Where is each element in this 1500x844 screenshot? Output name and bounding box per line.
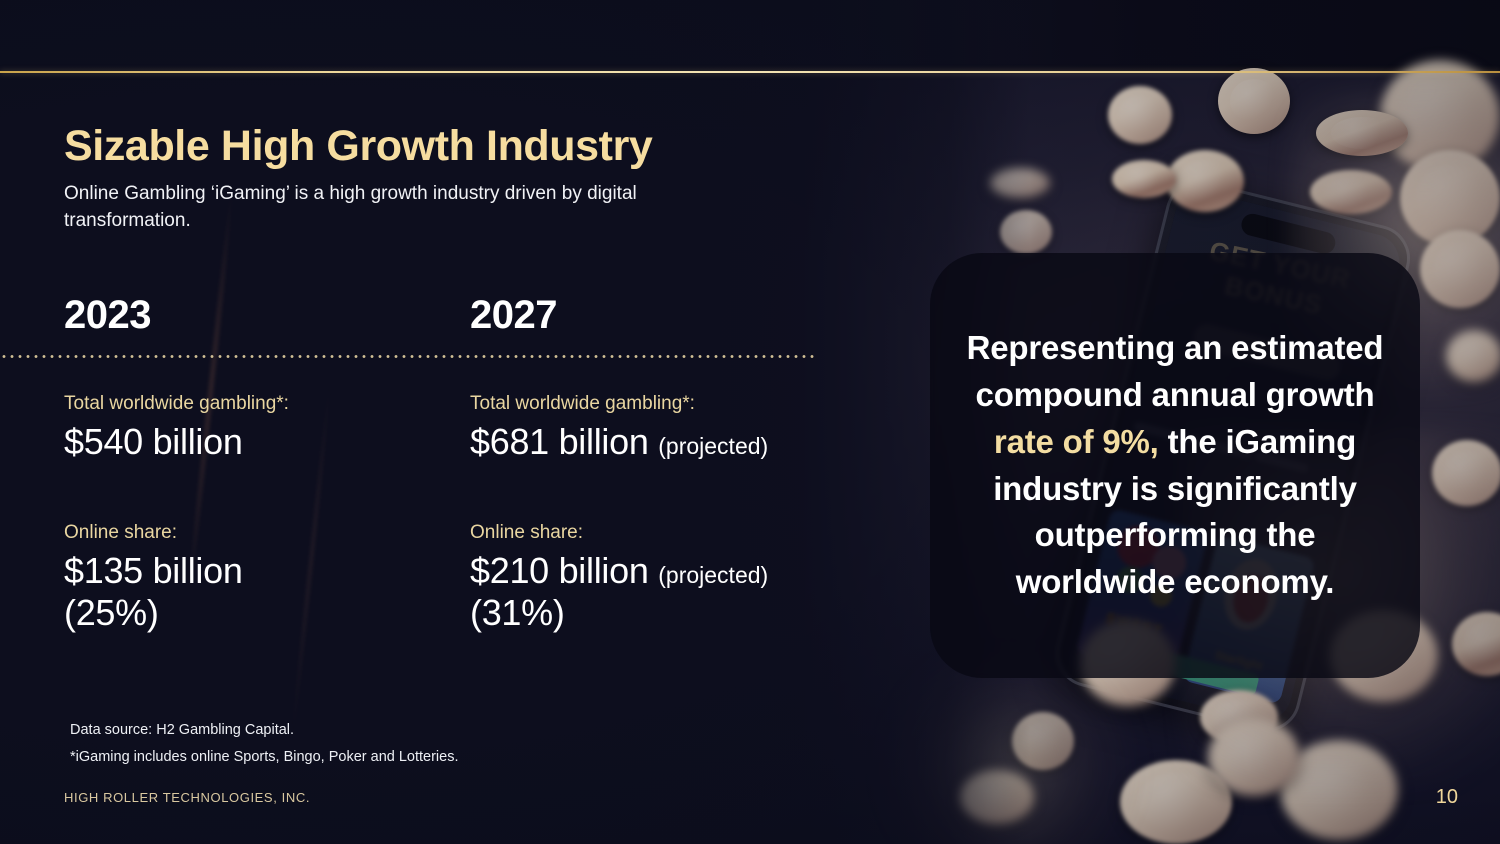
metric-label: Total worldwide gambling*:: [470, 392, 768, 417]
metric-2023-online-share: Online share: $135 billion(25%): [64, 521, 243, 635]
metric-note: (projected): [658, 562, 768, 588]
dotted-divider: [0, 355, 818, 358]
metric-2027-total: Total worldwide gambling*: $681 billion …: [470, 392, 768, 463]
footnote-igaming-definition: *iGaming includes online Sports, Bingo, …: [70, 749, 459, 765]
metric-value: $210 billion (projected)(31%): [470, 550, 768, 635]
page-number: 10: [1436, 786, 1458, 809]
callout-text: Representing an estimated compound annua…: [964, 325, 1386, 606]
metric-value: $681 billion (projected): [470, 421, 768, 463]
metric-percent: (31%): [470, 592, 565, 633]
metric-label: Online share:: [470, 521, 768, 546]
metric-2027-online-share: Online share: $210 billion (projected)(3…: [470, 521, 768, 635]
year-heading-2023: 2023: [64, 295, 464, 335]
metric-note: (projected): [658, 433, 768, 459]
metric-value: $135 billion(25%): [64, 550, 243, 635]
metric-amount: $210 billion: [470, 550, 649, 591]
metric-label: Online share:: [64, 521, 243, 546]
metric-amount: $681 billion: [470, 421, 649, 462]
year-heading-2027: 2027: [470, 295, 890, 335]
metric-2023-total: Total worldwide gambling*: $540 billion: [64, 392, 289, 463]
metric-percent: (25%): [64, 592, 159, 633]
callout-card: Representing an estimated compound annua…: [930, 253, 1420, 678]
callout-highlight: rate of 9%,: [994, 423, 1159, 460]
slide-content: Sizable High Growth Industry Online Gamb…: [0, 0, 1500, 844]
column-2027: 2027: [470, 295, 890, 335]
company-brand-label: HIGH ROLLER TECHNOLOGIES, INC.: [64, 790, 310, 805]
column-2023: 2023: [64, 295, 464, 335]
metric-value: $540 billion: [64, 421, 289, 463]
metric-amount: $540 billion: [64, 421, 243, 462]
page-subtitle: Online Gambling ‘iGaming’ is a high grow…: [64, 181, 704, 235]
metric-label: Total worldwide gambling*:: [64, 392, 289, 417]
metric-amount: $135 billion: [64, 550, 243, 591]
page-title: Sizable High Growth Industry: [64, 124, 652, 169]
footnote-data-source: Data source: H2 Gambling Capital.: [70, 722, 294, 738]
callout-text-part1: Representing an estimated compound annua…: [967, 329, 1384, 413]
slide: GET YOUR BONUS SWEET Starlight: [0, 0, 1500, 844]
